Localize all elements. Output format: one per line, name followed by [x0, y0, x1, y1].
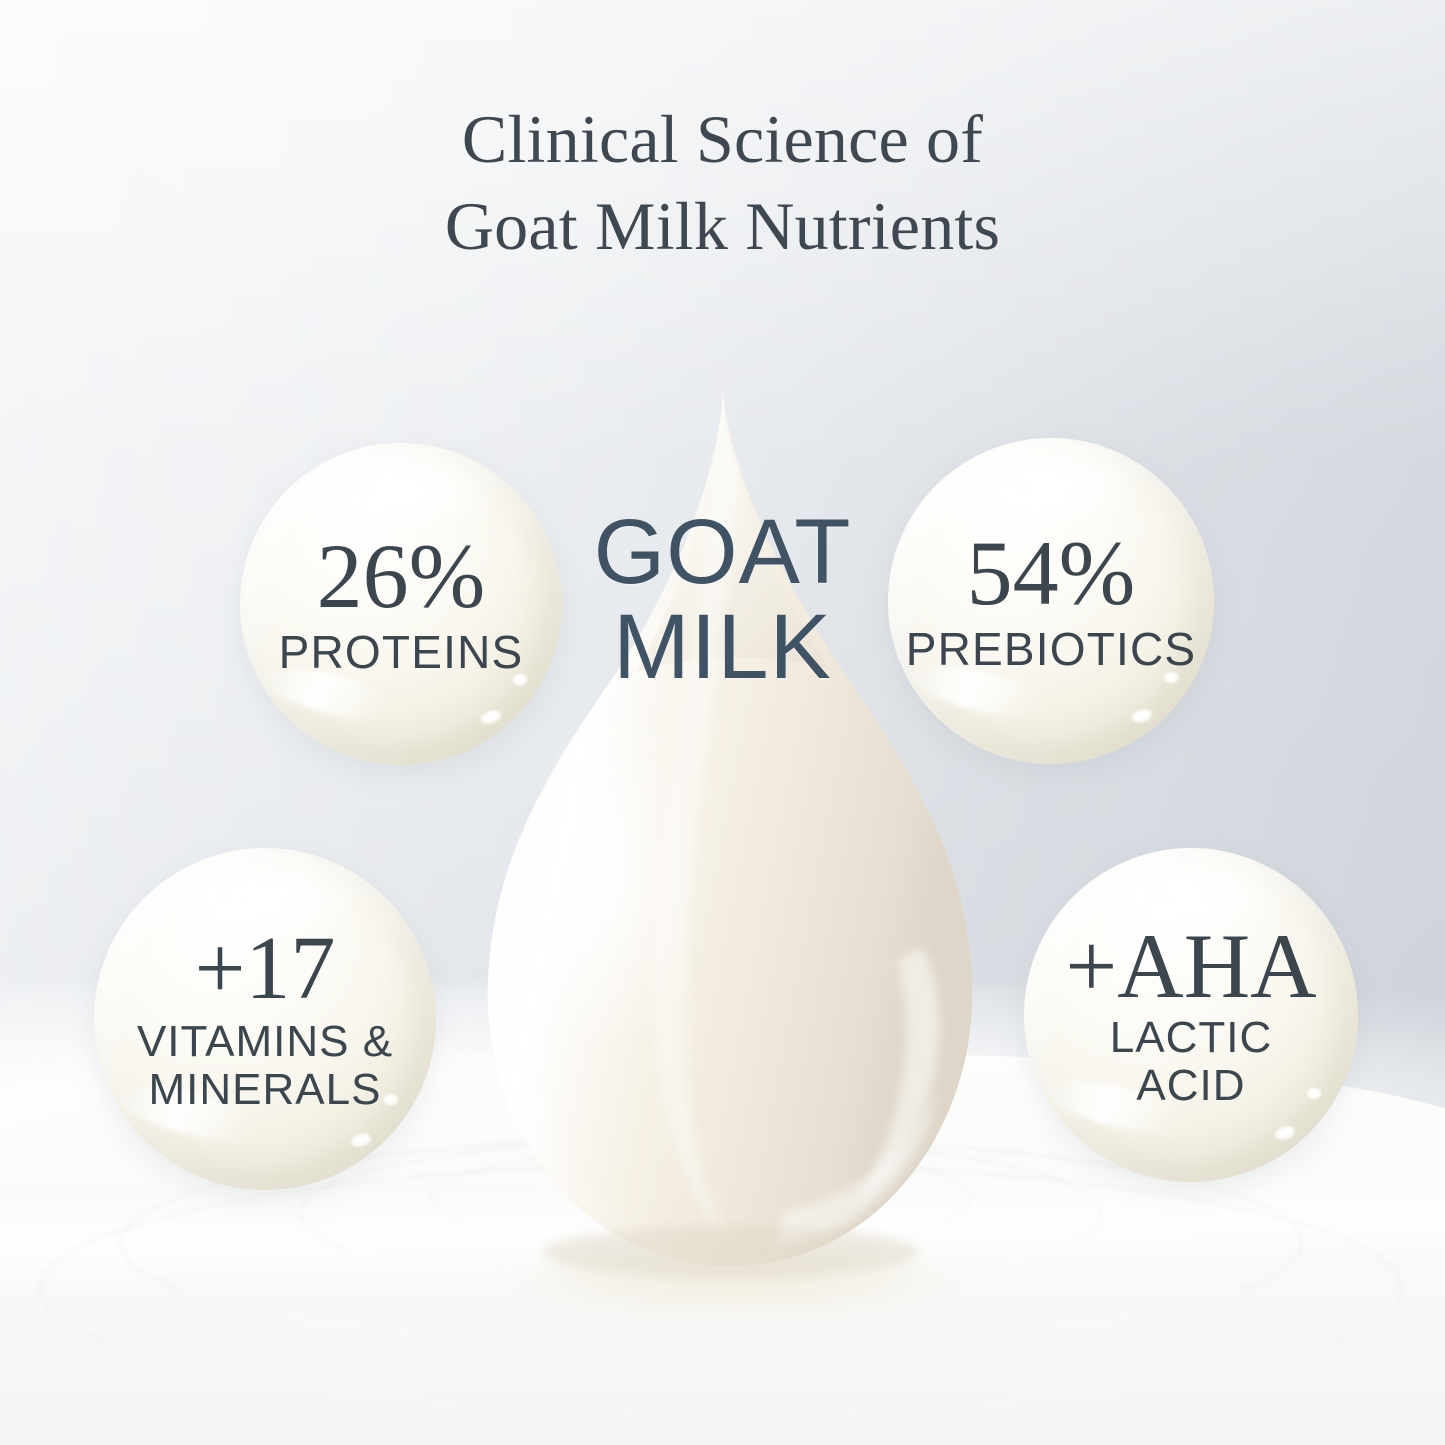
bubble-glint-icon [479, 708, 502, 726]
bubble-glint-icon [1307, 1088, 1321, 1099]
infographic-canvas: Clinical Science of Goat Milk Nutrients [0, 0, 1445, 1445]
stat-value-aha: +AHA [1065, 920, 1316, 1012]
bubble-glint-icon [350, 1131, 373, 1149]
stat-label-aha: LACTIC ACID [1110, 1014, 1272, 1109]
bubble-glint-icon [1273, 1124, 1296, 1142]
stat-bubble-aha: +AHA LACTIC ACID [1024, 848, 1358, 1182]
droplet-label: GOAT MILK [0, 505, 1445, 695]
stat-value-vitamins: +17 [195, 924, 336, 1014]
stat-label-vitamins: VITAMINS & MINERALS [137, 1018, 393, 1113]
page-title: Clinical Science of Goat Milk Nutrients [0, 96, 1445, 270]
stat-bubble-vitamins: +17 VITAMINS & MINERALS [94, 848, 436, 1190]
bubble-glint-icon [1131, 707, 1154, 725]
